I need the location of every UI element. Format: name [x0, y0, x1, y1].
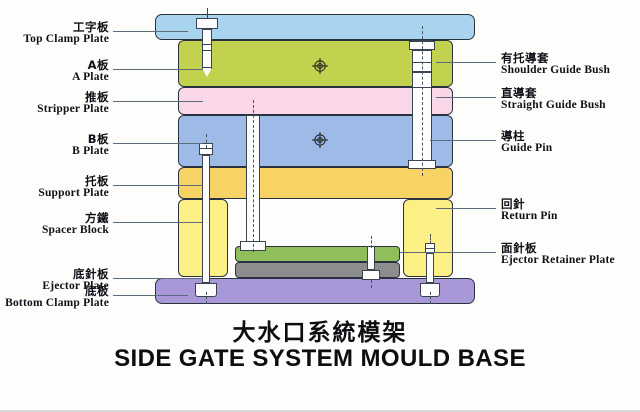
- leader-guide-pin: [430, 140, 496, 141]
- label-support-plate: 托板 Support Plate: [38, 175, 109, 200]
- label-return-pin: 回針 Return Pin: [501, 198, 558, 223]
- ejector-pin-centerline-bottom: [206, 292, 207, 304]
- label-ejector-retainer-plate: 面針板 Ejector Retainer Plate: [501, 242, 615, 267]
- label-cn: A板: [72, 59, 109, 71]
- label-en: Ejector Retainer Plate: [501, 254, 615, 266]
- leader-bottom-clamp-plate: [113, 295, 188, 296]
- part-cap-screw-head: [196, 18, 218, 29]
- label-cn: 托板: [38, 175, 109, 187]
- leader-ejector-plate: [113, 278, 203, 279]
- label-b-plate: B板 B Plate: [72, 133, 109, 158]
- label-en: Guide Pin: [501, 142, 552, 154]
- label-cn: 導柱: [501, 130, 552, 142]
- part-retainer-screw-shank: [367, 246, 375, 270]
- label-en: Stripper Plate: [37, 103, 109, 115]
- label-straight-guide-bush: 直導套 Straight Guide Bush: [501, 87, 606, 112]
- label-cn: 直導套: [501, 87, 606, 99]
- label-guide-pin: 導柱 Guide Pin: [501, 130, 552, 155]
- label-en: Straight Guide Bush: [501, 99, 606, 111]
- label-en: Bottom Clamp Plate: [5, 297, 109, 309]
- label-top-clamp-plate: 工字板 Top Clamp Plate: [23, 21, 109, 46]
- label-en: B Plate: [72, 145, 109, 157]
- title-english: SIDE GATE SYSTEM MOULD BASE: [0, 345, 640, 373]
- label-en: Shoulder Guide Bush: [501, 64, 610, 76]
- part-ejector-pin-shank: [202, 155, 210, 283]
- ejector-pin-centerline: [206, 134, 207, 148]
- label-cn: 工字板: [23, 21, 109, 33]
- label-cn: 回針: [501, 198, 558, 210]
- title-chinese: 大水口系統模架: [0, 313, 640, 347]
- part-support-plate: [178, 167, 453, 199]
- target-mark-b-plate: [312, 132, 328, 148]
- label-cn: 推板: [37, 91, 109, 103]
- leader-support-plate: [113, 185, 203, 186]
- label-en: Top Clamp Plate: [23, 33, 109, 45]
- return-pin-axis-low: [430, 292, 431, 304]
- cap-screw-axis: [207, 8, 208, 18]
- label-en: Return Pin: [501, 210, 558, 222]
- leader-shoulder-guide-bush: [436, 62, 496, 63]
- leader-stripper-plate: [113, 101, 203, 102]
- label-en: Support Plate: [38, 187, 109, 199]
- leader-spacer-block: [113, 222, 203, 223]
- label-cn: 底針板: [42, 268, 109, 280]
- guide-pin-centerline: [422, 26, 423, 176]
- leader-ejector-retainer-plate: [400, 252, 496, 253]
- label-cn: 面針板: [501, 242, 615, 254]
- label-en: Spacer Block: [42, 224, 109, 236]
- label-bottom-clamp-plate: 底板 Bottom Clamp Plate: [5, 285, 109, 310]
- label-en: A Plate: [72, 71, 109, 83]
- return-pin-thread-1: [425, 248, 435, 249]
- label-cn: B板: [72, 133, 109, 145]
- retainer-screw-axis: [371, 236, 372, 248]
- label-spacer-block: 方鐵 Spacer Block: [42, 212, 109, 237]
- diagram-canvas: 工字板 Top Clamp Plate A板 A Plate 推板 Stripp…: [0, 0, 640, 412]
- label-stripper-plate: 推板 Stripper Plate: [37, 91, 109, 116]
- part-return-pin-shank: [426, 253, 434, 283]
- label-cn: 底板: [5, 285, 109, 297]
- return-pin-axis: [430, 234, 431, 244]
- target-mark-a-plate: [312, 58, 328, 74]
- retainer-screw-axis-low: [371, 280, 372, 288]
- label-a-plate: A板 A Plate: [72, 59, 109, 84]
- part-retainer-screw-head: [362, 270, 380, 280]
- center-axis-line: [253, 100, 254, 252]
- part-cap-screw-shank: [202, 29, 212, 68]
- leader-return-pin: [436, 208, 496, 209]
- leader-b-plate: [113, 143, 203, 144]
- label-cn: 有托導套: [501, 52, 610, 64]
- leader-straight-guide-bush: [436, 97, 496, 98]
- cap-screw-thread-2: [202, 50, 212, 51]
- leader-top-clamp-plate: [113, 31, 188, 32]
- label-shoulder-guide-bush: 有托導套 Shoulder Guide Bush: [501, 52, 610, 77]
- cap-screw-thread-1: [202, 44, 212, 45]
- leader-a-plate: [113, 69, 203, 70]
- label-cn: 方鐵: [42, 212, 109, 224]
- ejector-pin-thread-1: [199, 148, 213, 149]
